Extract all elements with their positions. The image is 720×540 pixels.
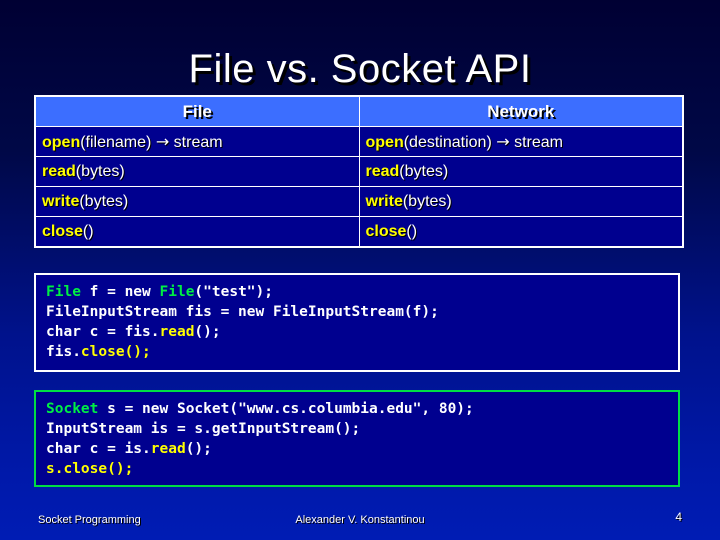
slide-canvas: File vs. Socket API File Network open(fi… [0, 0, 720, 540]
arrow-icon: → [156, 132, 169, 151]
keyword-write: write [42, 193, 79, 210]
cell-text: () [83, 223, 94, 240]
cell-text: (bytes) [403, 193, 452, 210]
code-text: char c = fis. [46, 324, 160, 340]
cell-file-open: open(filename) → stream [35, 127, 359, 157]
code-text: s = new Socket("www.cs.columbia.edu", 80… [98, 401, 473, 417]
code-type-file: File [46, 284, 81, 300]
keyword-write: write [366, 193, 403, 210]
code-text: (); [186, 441, 212, 457]
table-row: read(bytes) read(bytes) [35, 157, 683, 187]
cell-tail: stream [514, 134, 563, 151]
cell-text: (destination) [404, 134, 492, 151]
code-type-file: File [160, 284, 195, 300]
cell-text: (bytes) [79, 193, 128, 210]
code-text: fis. [46, 344, 81, 360]
column-header-file: File [35, 96, 359, 127]
code-block-file-api: File f = new File("test"); FileInputStre… [34, 273, 680, 372]
code-block-socket-api: Socket s = new Socket("www.cs.columbia.e… [34, 390, 680, 487]
cell-file-read: read(bytes) [35, 157, 359, 187]
code-type-socket: Socket [46, 401, 98, 417]
table-row: open(filename) → stream open(destination… [35, 127, 683, 157]
keyword-read: read [42, 163, 76, 180]
cell-text: (bytes) [399, 163, 448, 180]
cell-network-close: close() [359, 217, 683, 248]
cell-network-read: read(bytes) [359, 157, 683, 187]
api-comparison-table: File Network open(filename) → stream ope… [34, 95, 684, 248]
cell-network-open: open(destination) → stream [359, 127, 683, 157]
page-number: 4 [675, 510, 682, 524]
table-row: close() close() [35, 217, 683, 248]
code-method-close: s.close(); [46, 461, 133, 477]
keyword-close: close [366, 223, 407, 240]
slide-footer: Socket Programming Alexander V. Konstant… [0, 512, 720, 540]
keyword-open: open [366, 134, 404, 151]
cell-file-write: write(bytes) [35, 187, 359, 217]
code-text: char c = is. [46, 441, 151, 457]
cell-text: (bytes) [76, 163, 125, 180]
code-line-2: InputStream is = s.getInputStream(); [46, 421, 360, 437]
code-text: f = new [81, 284, 160, 300]
code-text: (); [194, 324, 220, 340]
table-row: write(bytes) write(bytes) [35, 187, 683, 217]
page-title: File vs. Socket API [0, 45, 720, 93]
code-text: ("test"); [194, 284, 273, 300]
table-header-row: File Network [35, 96, 683, 127]
keyword-open: open [42, 134, 80, 151]
cell-tail: stream [174, 134, 223, 151]
cell-text: (filename) [80, 134, 151, 151]
cell-file-close: close() [35, 217, 359, 248]
arrow-icon: → [496, 132, 509, 151]
code-line-2: FileInputStream fis = new FileInputStrea… [46, 304, 439, 320]
cell-text: () [406, 223, 417, 240]
column-header-network: Network [359, 96, 683, 127]
code-method-close: close(); [81, 344, 151, 360]
code-method-read: read [160, 324, 195, 340]
keyword-close: close [42, 223, 83, 240]
footer-author-label: Alexander V. Konstantinou [0, 514, 720, 526]
cell-network-write: write(bytes) [359, 187, 683, 217]
keyword-read: read [366, 163, 400, 180]
code-method-read: read [151, 441, 186, 457]
